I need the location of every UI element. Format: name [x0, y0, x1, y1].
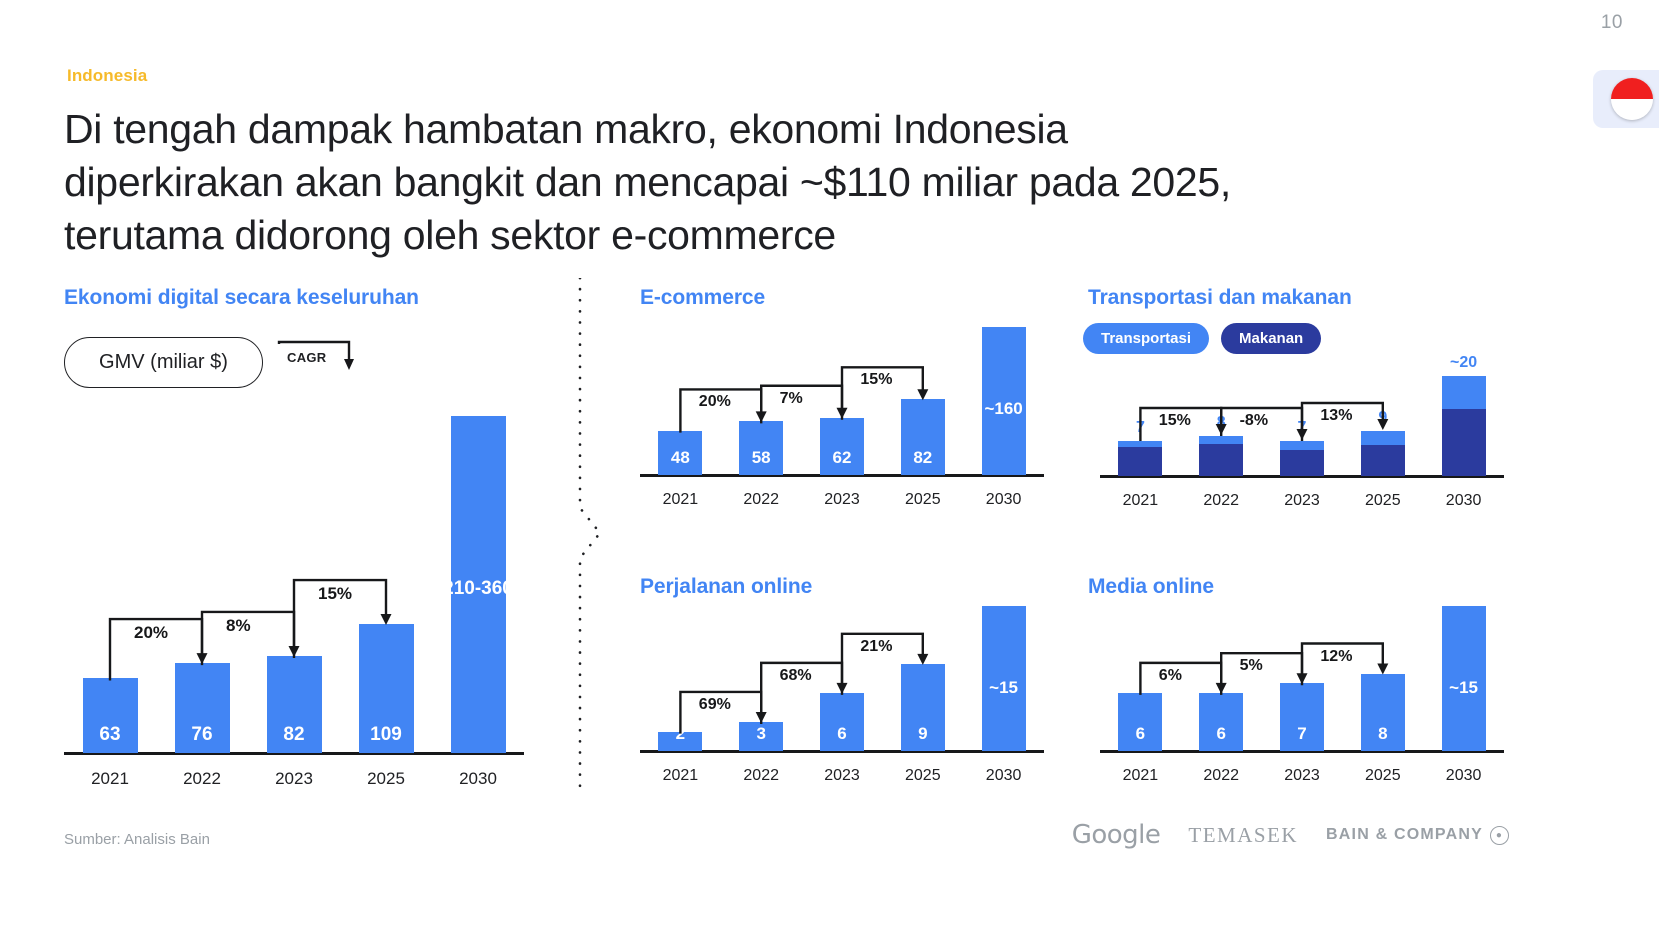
page-number: 10: [1601, 12, 1623, 34]
cagr-label: 5%: [1240, 657, 1263, 675]
cagr-label: 20%: [134, 623, 168, 643]
panel-title-travel: Perjalanan online: [640, 575, 812, 599]
source-note: Sumber: Analisis Bain: [64, 831, 210, 848]
x-tick-2023: 2023: [802, 767, 882, 785]
bar-value-label: 48: [658, 448, 702, 468]
x-tick-2022: 2022: [721, 767, 801, 785]
bar-value-label: 7: [1280, 724, 1324, 744]
cagr-label: 12%: [1320, 648, 1352, 666]
bar-2023: 6: [820, 693, 864, 751]
x-tick-2030: 2030: [1424, 767, 1504, 785]
gmv-unit-pill: GMV (miliar $): [64, 337, 263, 388]
chart-media: 62021620227202382025~1520306%5%12%: [1100, 598, 1504, 753]
cagr-label: 7%: [780, 390, 803, 408]
x-tick-2023: 2023: [1262, 492, 1342, 510]
chart-ecommerce: 482021582022622023822025~160203020%7%15%: [640, 320, 1044, 477]
x-tick-2021: 2021: [1100, 492, 1180, 510]
bar-value-label: 63: [83, 724, 138, 746]
stack-segment-transportasi: [1199, 436, 1243, 444]
bar-2025: 8: [1361, 674, 1405, 752]
cagr-label: -8%: [1240, 412, 1268, 430]
bar-value-label: 3: [739, 724, 783, 744]
indonesia-flag-icon: [1593, 70, 1659, 128]
stack-total-label: 9: [1345, 409, 1421, 427]
bain-mark-icon: ●: [1490, 826, 1509, 845]
stack-segment-makanan: [1442, 409, 1486, 477]
bar-2023: 62: [820, 418, 864, 475]
x-tick-2022: 2022: [1181, 492, 1261, 510]
x-tick-2022: 2022: [721, 491, 801, 509]
chart-travel: 22021320226202392025~15203069%68%21%: [640, 598, 1044, 753]
panel-title-media: Media online: [1088, 575, 1214, 599]
bar-2023: 7: [1280, 683, 1324, 751]
x-tick-2030: 2030: [433, 769, 524, 789]
panel-title-ecommerce: E-commerce: [640, 286, 765, 310]
bar-value-label: 109: [359, 724, 414, 746]
cagr-label: 15%: [860, 371, 892, 389]
cagr-label: 13%: [1320, 407, 1352, 425]
stack-segment-makanan: [1199, 444, 1243, 476]
x-tick-2030: 2030: [964, 491, 1044, 509]
bar-value-label: 210-360: [433, 578, 524, 600]
stack-segment-transportasi: [1361, 431, 1405, 445]
bar-2030: ~15: [1442, 606, 1486, 751]
stack-segment-makanan: [1361, 445, 1405, 476]
cagr-label: 6%: [1159, 667, 1182, 685]
cagr-label: 15%: [1159, 412, 1191, 430]
bar-2030: 210-360: [451, 416, 506, 753]
bar-2025: 109: [359, 624, 414, 753]
cagr-label: 69%: [699, 696, 731, 714]
x-tick-2021: 2021: [65, 769, 156, 789]
x-tick-2021: 2021: [1100, 767, 1180, 785]
x-tick-2021: 2021: [640, 767, 720, 785]
cagr-label: 68%: [780, 667, 812, 685]
x-tick-2022: 2022: [157, 769, 248, 789]
x-tick-2023: 2023: [249, 769, 340, 789]
page-title: Di tengah dampak hambatan makro, ekonomi…: [64, 103, 1294, 262]
bar-value-label: 58: [739, 448, 783, 468]
bar-value-label: 62: [820, 448, 864, 468]
flag-circle: [1611, 78, 1653, 120]
bar-2025: 82: [901, 399, 945, 475]
stack-segment-transportasi: [1442, 376, 1486, 409]
bar-2021: 48: [658, 431, 702, 475]
x-tick-2025: 2025: [1343, 492, 1423, 510]
stack-segment-makanan: [1280, 450, 1324, 476]
bar-value-label: 8: [1361, 724, 1405, 744]
stack-segment-transportasi: [1280, 441, 1324, 450]
chart-transport-food: 72021820227202392025~20203015%-8%13%: [1100, 368, 1504, 478]
bar-2022: 6: [1199, 693, 1243, 751]
cagr-label: 8%: [226, 616, 251, 636]
bar-2022: 58: [739, 421, 783, 475]
bar-value-label: 6: [1199, 724, 1243, 744]
bar-value-label: ~15: [964, 678, 1044, 698]
x-tick-2030: 2030: [1424, 492, 1504, 510]
bar-2022: 3: [739, 722, 783, 751]
bar-2022: 76: [175, 663, 230, 753]
x-tick-2023: 2023: [802, 491, 882, 509]
x-tick-2030: 2030: [964, 767, 1044, 785]
bar-value-label: 82: [901, 448, 945, 468]
panel-title-overall: Ekonomi digital secara keseluruhan: [64, 286, 419, 310]
legend-pill-transportasi[interactable]: Transportasi: [1083, 323, 1209, 354]
section-divider: [560, 278, 620, 788]
x-tick-2022: 2022: [1181, 767, 1261, 785]
x-tick-2023: 2023: [1262, 767, 1342, 785]
bar-2025: 9: [901, 664, 945, 751]
country-kicker: Indonesia: [67, 66, 147, 86]
bar-2030: ~15: [982, 606, 1026, 751]
bar-value-label: 9: [901, 724, 945, 744]
x-tick-2021: 2021: [640, 491, 720, 509]
legend-pill-makanan[interactable]: Makanan: [1221, 323, 1321, 354]
chart-overall: 6320217620228220231092025210-360203020%8…: [64, 400, 524, 755]
bar-value-label: ~160: [964, 399, 1044, 419]
bar-2021: 63: [83, 678, 138, 753]
bar-2030: ~160: [982, 327, 1026, 475]
bar-2021: 6: [1118, 693, 1162, 751]
stack-segment-transportasi: [1118, 441, 1162, 447]
legend-transport-food: Transportasi Makanan: [1083, 323, 1321, 354]
bar-value-label: ~15: [1424, 678, 1504, 698]
cagr-key-label: CAGR: [287, 350, 326, 365]
panel-title-transport-food: Transportasi dan makanan: [1088, 286, 1352, 310]
bar-value-label: 6: [1118, 724, 1162, 744]
bar-value-label: 2: [658, 724, 702, 744]
google-logo: Google: [1072, 820, 1161, 850]
x-tick-2025: 2025: [883, 767, 963, 785]
slide: 10 Indonesia Di tengah dampak hambatan m…: [0, 0, 1659, 930]
x-tick-2025: 2025: [341, 769, 432, 789]
bar-value-label: 82: [267, 724, 322, 746]
bar-2023: 82: [267, 656, 322, 753]
bar-value-label: 76: [175, 724, 230, 746]
cagr-label: 15%: [318, 584, 352, 604]
temasek-logo: TEMASEK: [1188, 823, 1298, 848]
bar-2021: 2: [658, 732, 702, 751]
x-tick-2025: 2025: [883, 491, 963, 509]
x-tick-2025: 2025: [1343, 767, 1423, 785]
cagr-label: 20%: [699, 393, 731, 411]
stack-segment-makanan: [1118, 447, 1162, 476]
stack-total-label: ~20: [1426, 354, 1502, 372]
partner-logos: Google TEMASEK BAIN & COMPANY ●: [1072, 820, 1509, 850]
cagr-key: CAGR: [277, 340, 357, 376]
bain-logo: BAIN & COMPANY ●: [1326, 826, 1509, 845]
bar-value-label: 6: [820, 724, 864, 744]
bain-logo-text: BAIN & COMPANY: [1326, 826, 1483, 844]
cagr-label: 21%: [860, 638, 892, 656]
